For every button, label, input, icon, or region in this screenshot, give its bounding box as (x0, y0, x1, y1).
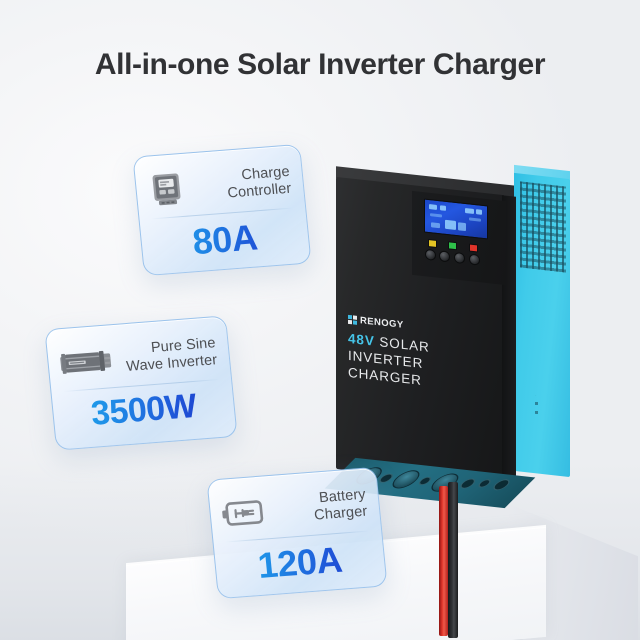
charge-controller-icon (145, 169, 189, 212)
battery-charger-icon (219, 491, 269, 534)
card-label: Battery Charger (273, 487, 368, 528)
card-value: 120A (214, 536, 386, 591)
terminal-port (476, 479, 493, 488)
side-status-dots (535, 396, 538, 414)
product-hero-image: All-in-one Solar Inverter Charger (0, 0, 640, 640)
pure-sine-wave-inverter-icon (57, 340, 115, 384)
feature-card-charge-controller[interactable]: Charge Controller 80A (132, 144, 311, 276)
fault-led (469, 244, 478, 253)
solar-inverter-charger-device: RENOGY 48V SOLAR INVERTER CHARGER (336, 170, 568, 500)
card-label: Charge Controller (193, 164, 292, 205)
feature-card-battery-charger[interactable]: Battery Charger 120A (206, 467, 387, 599)
terminal-port (457, 478, 478, 489)
down-button[interactable] (454, 252, 465, 264)
card-value: 80A (140, 213, 310, 268)
enter-button[interactable] (469, 254, 480, 266)
renogy-mark-icon (348, 315, 357, 325)
card-label-line2: Charger (314, 504, 369, 524)
line-led (428, 239, 437, 248)
negative-cable (448, 482, 458, 638)
device-model-voltage: 48V (348, 331, 375, 349)
device-model-line2: INVERTER CHARGER (348, 348, 423, 388)
card-value: 3500W (52, 384, 235, 437)
up-button[interactable] (439, 250, 450, 262)
terminal-port (490, 479, 513, 491)
positive-cable (439, 486, 448, 636)
cooling-fan-icon (387, 469, 425, 489)
card-label: Pure Sine Wave Inverter (119, 335, 218, 376)
card-header: Battery Charger (218, 479, 368, 540)
vent-grid-icon (520, 181, 566, 272)
lcd-display (424, 199, 488, 240)
card-label-line2: Wave Inverter (126, 352, 218, 375)
card-label-line2: Controller (227, 181, 292, 202)
inverter-led (448, 241, 457, 250)
feature-card-pure-sine-wave-inverter[interactable]: Pure Sine Wave Inverter 3500W (44, 315, 237, 450)
esc-button[interactable] (425, 249, 436, 261)
page-title: All-in-one Solar Inverter Charger (0, 48, 640, 82)
card-header: Charge Controller (144, 156, 292, 217)
